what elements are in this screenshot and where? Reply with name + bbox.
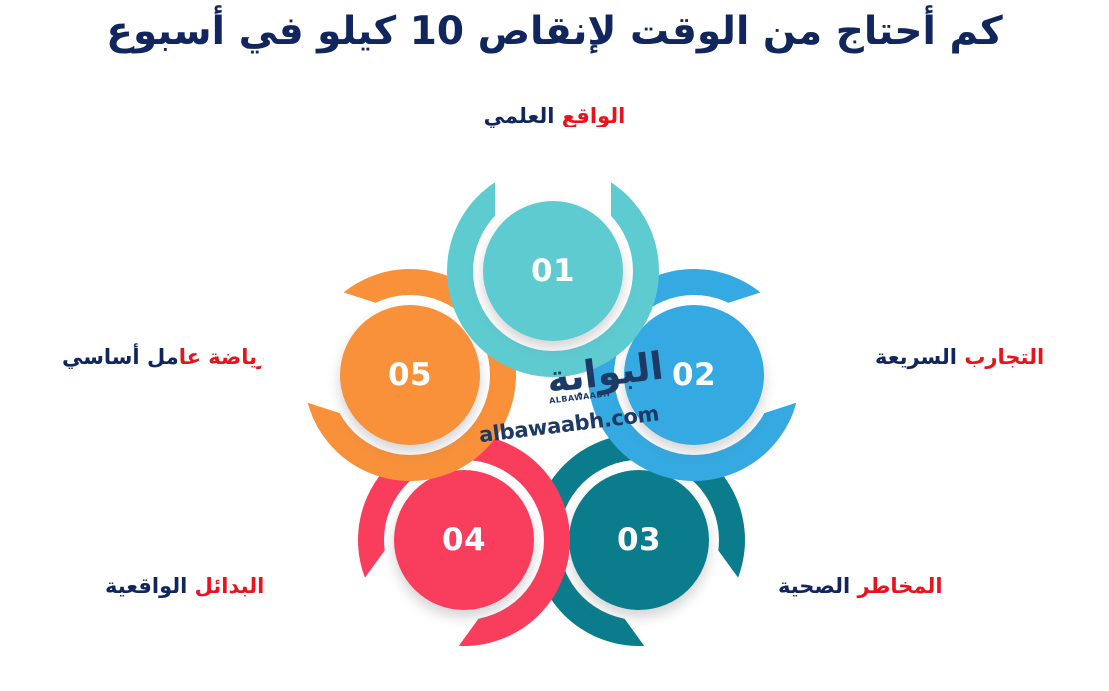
petal-disc-01: 01 <box>483 201 623 341</box>
petal-cycle-diagram: 01 02 03 04 <box>322 165 804 647</box>
page-title: كم أحتاج من الوقت لإنقاص 10 كيلو في أسبو… <box>0 8 1109 56</box>
petal-label-02-navy: السريعة <box>875 345 957 369</box>
petal-label-02: التجارب السريعة <box>875 345 1044 369</box>
infographic-canvas: كم أحتاج من الوقت لإنقاص 10 كيلو في أسبو… <box>0 0 1109 682</box>
petal-number-03: 03 <box>617 522 661 558</box>
petal-number-02: 02 <box>672 357 716 393</box>
petal-label-05-navy: مل أساسي <box>62 345 179 369</box>
petal-number-05: 05 <box>388 357 432 393</box>
petal-label-03-red: المخاطر <box>858 574 943 598</box>
petal-label-03: المخاطر الصحية <box>778 574 943 598</box>
petal-number-01: 01 <box>531 253 575 289</box>
petal-label-04-red: البدائل <box>195 574 265 598</box>
petal-number-04: 04 <box>442 522 486 558</box>
petal-label-02-red: التجارب <box>964 345 1044 369</box>
petal-label-04: البدائل الواقعية <box>105 574 264 598</box>
petal-label-04-navy: الواقعية <box>105 574 187 598</box>
petal-label-05: الرياضة عامل أساسي <box>62 345 285 369</box>
petal-label-03-navy: الصحية <box>778 574 850 598</box>
petal-disc-03: 03 <box>569 470 709 610</box>
petal-label-01-navy: العلمي <box>484 104 555 128</box>
petal-label-01: الواقع العلمي <box>0 104 1109 128</box>
petal-label-01-red: الواقع <box>562 104 626 128</box>
petal-disc-04: 04 <box>394 470 534 610</box>
petal-step-01[interactable]: 01 <box>447 165 659 377</box>
